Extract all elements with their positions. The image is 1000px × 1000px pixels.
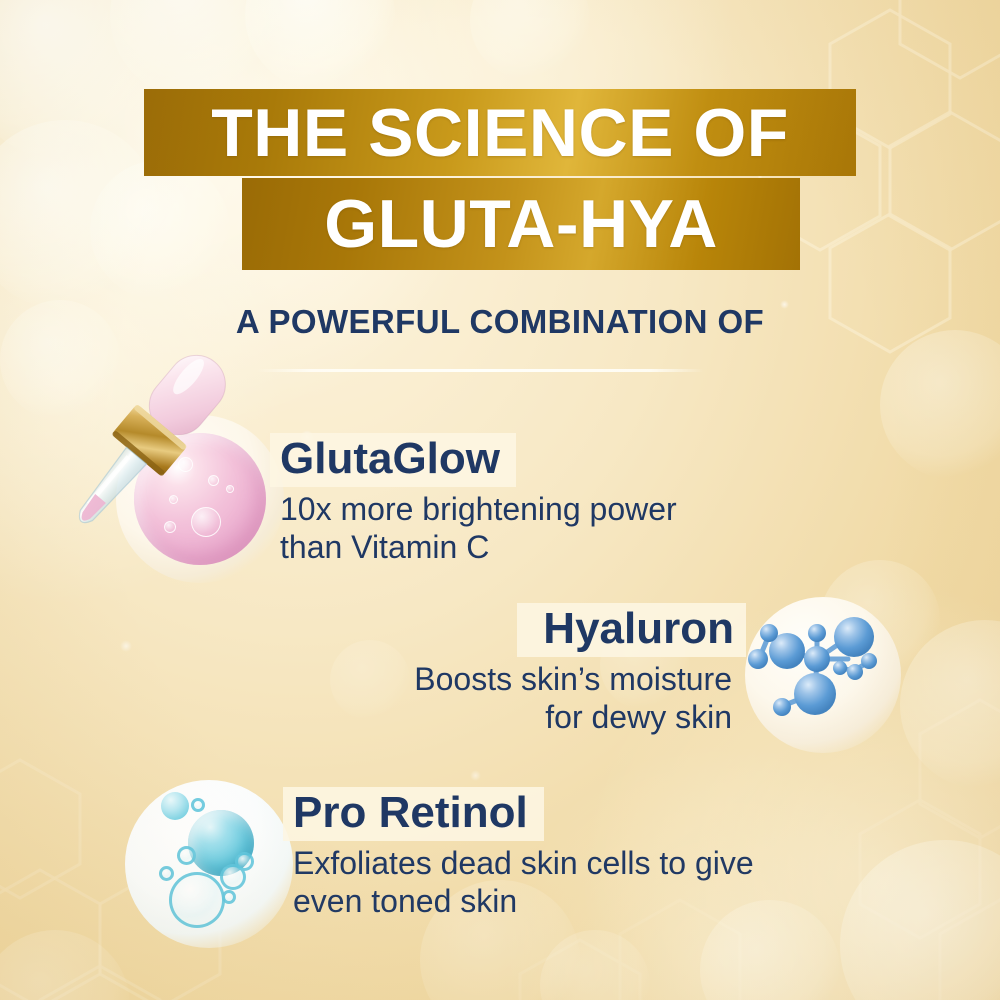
- bokeh-blob: [110, 0, 280, 100]
- water-bubble: [222, 890, 236, 904]
- glass-dropper-pipette-icon: [18, 338, 268, 558]
- ingredient-desc-line-2: for dewy skin: [0, 699, 732, 737]
- ingredient-name-pro-retinol: Pro Retinol: [283, 787, 544, 841]
- ingredient-desc-line-1: 10x more brightening power: [280, 491, 677, 529]
- subtitle-text: A POWERFUL COMBINATION OF: [0, 303, 1000, 341]
- pro-retinol-bubbles-icon: [125, 780, 293, 948]
- water-bubble: [177, 846, 196, 865]
- water-bubble: [235, 852, 254, 871]
- bokeh-blob: [0, 930, 130, 1000]
- water-bubble: [191, 798, 205, 812]
- hyaluron-molecule-icon: [745, 597, 901, 753]
- water-bubble: [161, 792, 189, 820]
- title-line-1-text: THE SCIENCE OF: [211, 94, 789, 172]
- ingredient-desc-line-2: even toned skin: [293, 883, 754, 921]
- title-banner-line-1: THE SCIENCE OF: [144, 89, 856, 176]
- title-banner-line-2: GLUTA-HYA: [242, 178, 800, 270]
- bokeh-blob: [0, 120, 160, 310]
- ingredient-block-glutaglow: GlutaGlow 10x more brightening power tha…: [270, 433, 677, 567]
- ingredient-desc-line-1: Boosts skin’s moisture: [0, 661, 732, 699]
- ingredient-desc-line-2: than Vitamin C: [280, 529, 677, 567]
- ingredient-name-glutaglow: GlutaGlow: [270, 433, 516, 487]
- bokeh-blob: [245, 0, 395, 90]
- section-divider: [256, 369, 704, 372]
- water-bubble: [169, 872, 225, 928]
- sparkle: [470, 770, 481, 781]
- water-bubble: [159, 866, 174, 881]
- bokeh-blob: [90, 160, 230, 300]
- ingredient-block-pro-retinol: Pro Retinol Exfoliates dead skin cells t…: [283, 787, 754, 921]
- bokeh-blob: [900, 620, 1000, 790]
- title-line-2-text: GLUTA-HYA: [324, 185, 718, 263]
- ingredient-name-hyaluron: Hyaluron: [517, 603, 746, 657]
- ingredient-block-hyaluron: Hyaluron Boosts skin’s moisture for dewy…: [0, 603, 746, 737]
- bokeh-blob: [470, 0, 590, 80]
- bokeh-blob: [540, 930, 650, 1000]
- ingredient-desc-line-1: Exfoliates dead skin cells to give: [293, 845, 754, 883]
- bokeh-blob: [880, 330, 1000, 480]
- bokeh-blob: [840, 840, 1000, 1000]
- infographic-canvas: THE SCIENCE OF GLUTA-HYA A POWERFUL COMB…: [0, 0, 1000, 1000]
